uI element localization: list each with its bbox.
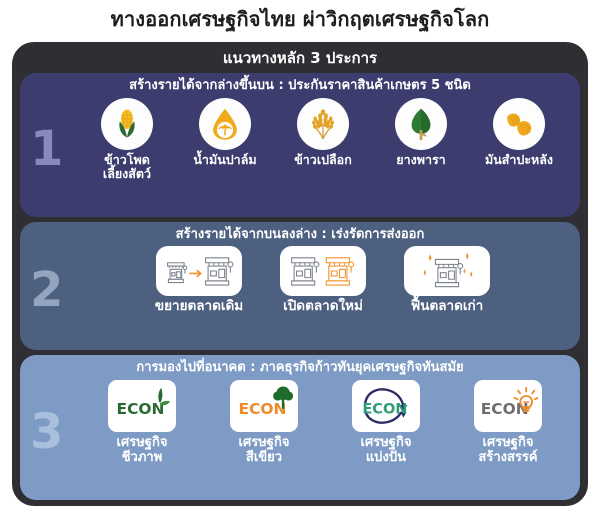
econ-lightbulb-icon: ECON (478, 384, 538, 428)
item-cassava[interactable]: มันสำปะหลัง (473, 98, 565, 168)
new-market-badge (280, 246, 366, 296)
item-palm-oil[interactable]: น้ำมันปาล์ม (179, 98, 271, 168)
econ-text: ECON (239, 400, 287, 418)
econ-circular-arrow-icon: ECON (356, 384, 416, 428)
cassava-label-line1: มันสำปะหลัง (485, 153, 553, 168)
section-1-panel: 1 สร้างรายได้จากล่างขึ้นบน : ประกันราคาส… (20, 73, 580, 217)
infographic-page: ทางออกเศรษฐกิจไทย ผ่าวิกฤตเศรษฐกิจโลก แน… (0, 0, 600, 514)
creative-economy-label-line2: สร้างสรรค์ (478, 450, 537, 465)
subtitle-bar: แนวทางหลัก 3 ประการ (18, 46, 582, 73)
corn-label-line2: เลี้ยงสัตว์ (103, 167, 151, 182)
item-corn[interactable]: ข้าวโพด เลี้ยงสัตว์ (81, 98, 173, 183)
econ-green-tree-icon: ECON (234, 384, 294, 428)
page-title: ทางออกเศรษฐกิจไทย ผ่าวิกฤตเศรษฐกิจโลก (0, 0, 600, 38)
bio-economy-label-line1: เศรษฐกิจ (117, 435, 168, 450)
creative-economy-badge: ECON (474, 380, 542, 432)
section-2-items: ขยายตลาดเดิม (20, 244, 580, 350)
bio-economy-label-line2: ชีวภาพ (117, 450, 168, 465)
bio-economy-label: เศรษฐกิจ ชีวภาพ (117, 435, 168, 466)
item-creative-economy[interactable]: ECON (452, 380, 564, 466)
rubber-tree-label: ยางพารา (396, 153, 445, 168)
section-2-panel: 2 สร้างรายได้จากบนลงล่าง : เร่งรัดการส่ง… (20, 222, 580, 350)
bio-economy-badge: ECON (108, 380, 176, 432)
expand-market-badge (156, 246, 242, 296)
econ-bio-leaf-icon: ECON (112, 384, 172, 428)
corn-label: ข้าวโพด เลี้ยงสัตว์ (103, 153, 151, 183)
item-revive-market[interactable]: ฟื้นตลาดเก่า (393, 246, 501, 315)
item-green-economy[interactable]: ECON เศรษฐกิจ สีเขียว (208, 380, 320, 466)
revive-market-label: ฟื้นตลาดเก่า (411, 299, 484, 315)
cassava-badge (493, 98, 545, 150)
creative-economy-label: เศรษฐกิจ สร้างสรรค์ (478, 435, 537, 466)
rice-paddy-icon (307, 107, 339, 141)
econ-text: ECON (362, 401, 407, 417)
green-economy-label-line2: สีเขียว (239, 450, 290, 465)
revive-market-badge (404, 246, 490, 296)
sharing-economy-badge: ECON (352, 380, 420, 432)
section-1-items: ข้าวโพด เลี้ยงสัตว์ (20, 96, 580, 217)
item-bio-economy[interactable]: ECON เศรษฐกิจ ชีวภาพ (86, 380, 198, 466)
item-expand-market[interactable]: ขยายตลาดเดิม (145, 246, 253, 315)
sharing-economy-label-line2: แบ่งปัน (361, 450, 412, 465)
corn-icon (110, 107, 144, 141)
green-economy-label: เศรษฐกิจ สีเขียว (239, 435, 290, 466)
two-shops-icon (285, 251, 361, 291)
item-sharing-economy[interactable]: ECON เศรษฐกิจ แบ่งปัน (330, 380, 442, 466)
rice-label: ข้าวเปลือก (294, 153, 352, 168)
palm-oil-label: น้ำมันปาล์ม (193, 153, 256, 168)
new-market-label: เปิดตลาดใหม่ (283, 299, 363, 315)
econ-text: ECON (481, 400, 529, 418)
econ-text: ECON (117, 400, 165, 418)
corn-badge (101, 98, 153, 150)
rice-badge (297, 98, 349, 150)
item-rice[interactable]: ข้าวเปลือก (277, 98, 369, 168)
section-3-panel: 3 การมองไปที่อนาคต : ภาคธุรกิจก้าวทันยุค… (20, 355, 580, 500)
item-rubber-tree[interactable]: ยางพารา (375, 98, 467, 168)
rubber-tree-label-line1: ยางพารา (396, 153, 445, 168)
infographic-frame: แนวทางหลัก 3 ประการ 1 สร้างรายได้จากล่าง… (12, 42, 588, 506)
shop-sparkle-icon (409, 251, 485, 291)
shop-growth-arrow-icon (161, 251, 237, 291)
palm-oil-droplet-icon (209, 107, 241, 141)
sharing-economy-label-line1: เศรษฐกิจ (361, 435, 412, 450)
rubber-tree-badge (395, 98, 447, 150)
section-2-heading: สร้างรายได้จากบนลงล่าง : เร่งรัดการส่งออ… (20, 222, 580, 245)
cassava-label: มันสำปะหลัง (485, 153, 553, 168)
sharing-economy-label: เศรษฐกิจ แบ่งปัน (361, 435, 412, 466)
palm-oil-label-line1: น้ำมันปาล์ม (193, 153, 256, 168)
palm-oil-badge (199, 98, 251, 150)
section-3-heading: การมองไปที่อนาคต : ภาคธุรกิจก้าวทันยุคเศ… (20, 355, 580, 378)
green-economy-label-line1: เศรษฐกิจ (239, 435, 290, 450)
green-economy-badge: ECON (230, 380, 298, 432)
rubber-tree-icon (406, 107, 436, 141)
section-3-items: ECON เศรษฐกิจ ชีวภาพ ECON (20, 378, 580, 500)
cassava-icon (502, 108, 536, 140)
expand-market-label: ขยายตลาดเดิม (155, 299, 243, 315)
creative-economy-label-line1: เศรษฐกิจ (478, 435, 537, 450)
section-1-heading: สร้างรายได้จากล่างขึ้นบน : ประกันราคาสิน… (20, 73, 580, 96)
item-new-market[interactable]: เปิดตลาดใหม่ (269, 246, 377, 315)
rice-label-line1: ข้าวเปลือก (294, 153, 352, 168)
